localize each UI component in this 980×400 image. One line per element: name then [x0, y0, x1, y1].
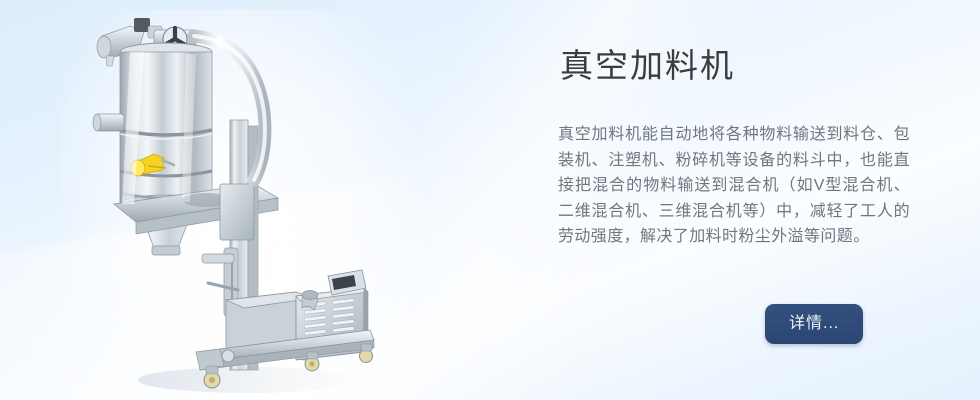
- side-inlet-port: [93, 114, 124, 131]
- details-button[interactable]: 详情...: [765, 304, 863, 344]
- hero-copy: 真空加料机 真空加料机能自动地将各种物料输送到料仓、包装机、注塑机、粉碎机等设备…: [558, 44, 918, 250]
- product-hero-banner: 真空加料机 真空加料机能自动地将各种物料输送到料仓、包装机、注塑机、粉碎机等设备…: [0, 0, 980, 400]
- cta-container: 详情...: [765, 304, 863, 344]
- page-title: 真空加料机: [560, 44, 918, 88]
- vacuum-feeder-machine-image: [78, 8, 378, 398]
- product-description: 真空加料机能自动地将各种物料输送到料仓、包装机、注塑机、粉碎机等设备的料斗中，也…: [558, 122, 910, 250]
